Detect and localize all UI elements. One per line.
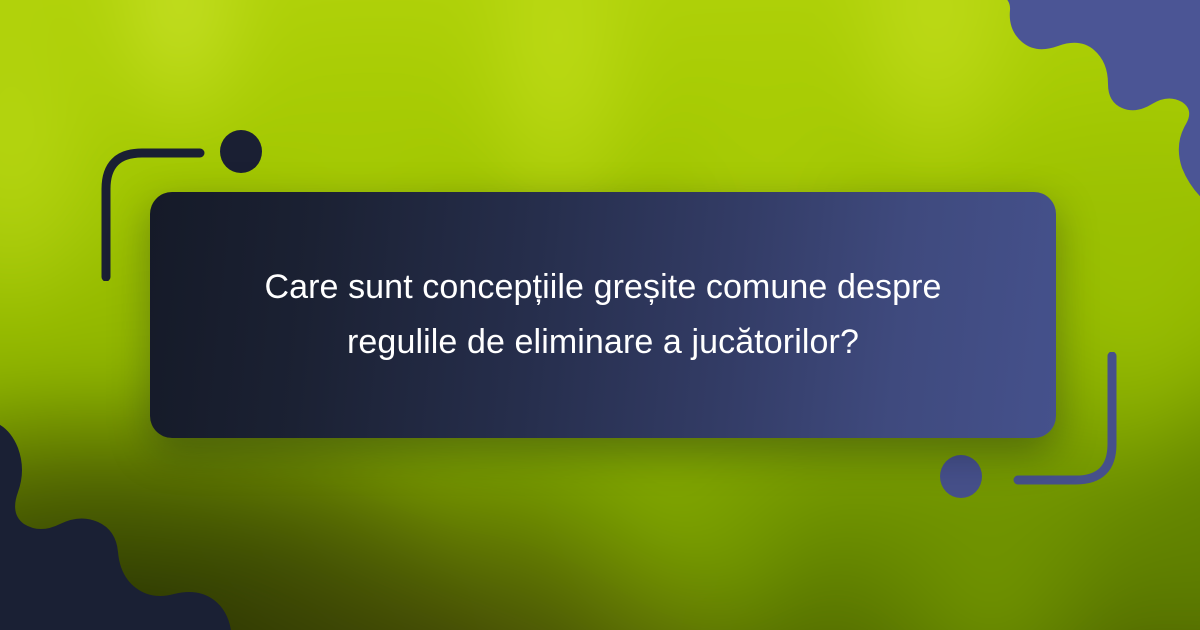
og-image-card: Care sunt concepțiile greșite comune des… [0,0,1200,630]
question-text: Care sunt concepțiile greșite comune des… [214,260,992,370]
question-card: Care sunt concepțiile greșite comune des… [150,192,1056,438]
